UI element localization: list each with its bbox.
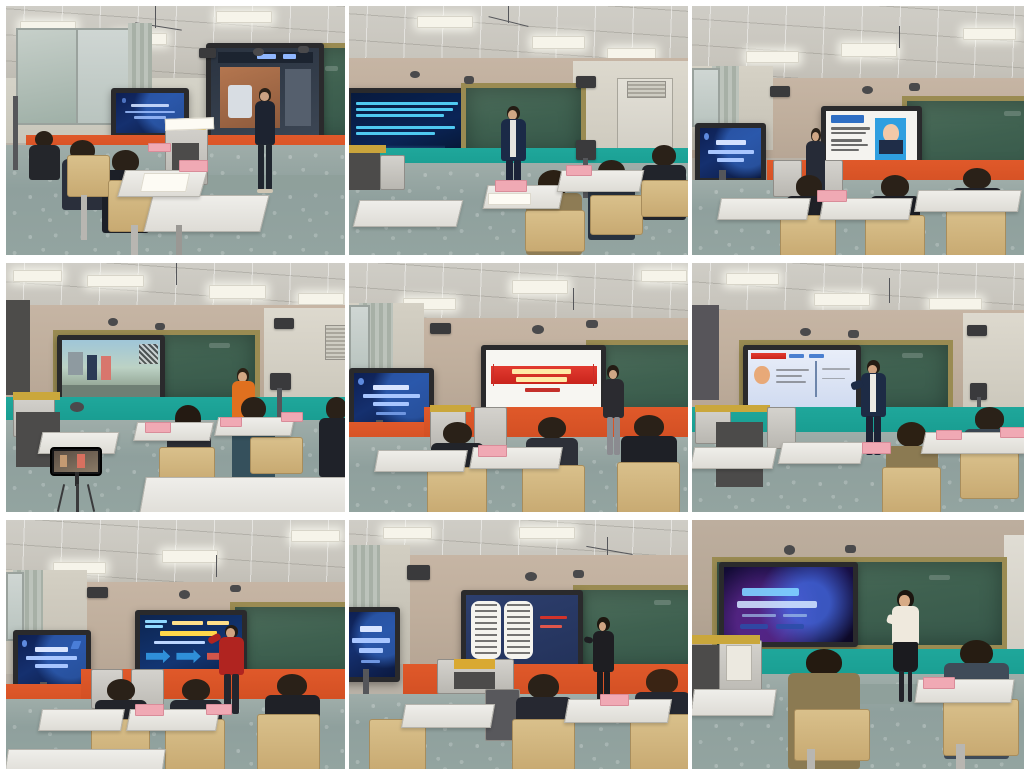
pink-booklet (145, 422, 171, 432)
side-banner-screen[interactable] (695, 123, 766, 183)
wall-speaker (967, 325, 987, 336)
slide-title-line (742, 588, 799, 596)
classroom-scene-7 (6, 520, 345, 769)
pink-booklet (862, 442, 891, 454)
photo-cell-1[interactable] (6, 6, 345, 255)
desk (778, 442, 866, 464)
photo-collage-grid (0, 0, 1024, 768)
chair (780, 215, 836, 255)
photo-cell-2[interactable] (349, 6, 688, 255)
photo-cell-3[interactable] (692, 6, 1024, 255)
pink-booklet (817, 190, 846, 202)
wall-speaker (407, 565, 431, 580)
chair (250, 437, 303, 474)
desk (914, 190, 1022, 212)
air-vent (325, 325, 345, 359)
audience-member (26, 131, 63, 181)
chair (946, 208, 1006, 255)
pink-booklet (179, 160, 208, 172)
desk (692, 447, 778, 469)
wall-speaker (430, 323, 450, 334)
chair (67, 155, 110, 197)
photo-cell-5[interactable] (349, 263, 688, 512)
photo-cell-8[interactable] (349, 520, 688, 769)
classroom-scene-5 (349, 263, 688, 512)
pink-booklet (206, 704, 232, 714)
pink-booklet (281, 412, 303, 421)
desk (374, 450, 468, 472)
chair (522, 465, 585, 512)
chair (641, 180, 688, 217)
classroom-scene-4 (6, 263, 345, 512)
tripod (53, 472, 100, 512)
desk (692, 689, 777, 716)
chair (525, 210, 585, 252)
audience-member (318, 397, 345, 477)
chair (943, 699, 1020, 756)
window (349, 305, 370, 374)
desk (38, 709, 125, 731)
pink-booklet (220, 417, 242, 426)
pink-booklet (135, 704, 164, 716)
wall-speaker (770, 86, 790, 97)
pink-booklet (148, 143, 170, 152)
ceiling-camera (784, 545, 796, 555)
pink-booklet (495, 180, 528, 192)
photo-cell-7[interactable] (6, 520, 345, 769)
desk (352, 200, 462, 227)
chair (512, 719, 575, 769)
wall-speaker (199, 48, 216, 58)
chair (590, 195, 643, 234)
pink-booklet (923, 677, 956, 689)
classroom-scene-9 (692, 520, 1024, 769)
skirt (893, 642, 917, 672)
window (692, 68, 720, 127)
presenter (858, 360, 889, 455)
chair (427, 467, 487, 512)
air-vent (627, 81, 666, 98)
notebook (140, 173, 190, 192)
desk (401, 704, 495, 728)
chair (617, 462, 680, 512)
side-banner-screen[interactable] (349, 607, 400, 682)
podium-console (380, 155, 406, 189)
notebook (488, 193, 531, 205)
slide-subtitle-line (737, 601, 817, 608)
wall-speaker (576, 76, 596, 88)
chair (882, 467, 942, 512)
classroom-scene-8 (349, 520, 688, 769)
classroom-scene-1 (6, 6, 345, 255)
pink-booklet (600, 694, 629, 706)
classroom-scene-3 (692, 6, 1024, 255)
desk (144, 195, 270, 232)
desk (6, 749, 166, 769)
presenter (590, 617, 617, 707)
chair (960, 452, 1020, 499)
photo-cell-9[interactable] (692, 520, 1024, 769)
wall-speaker (274, 318, 294, 329)
pink-booklet (478, 445, 507, 457)
chair (257, 714, 320, 769)
photo-cell-6[interactable] (692, 263, 1024, 512)
main-touch-screen[interactable] (57, 335, 165, 402)
ceiling-camera (862, 86, 874, 94)
ceiling-camera (253, 48, 263, 55)
desk (138, 477, 345, 512)
chair (794, 709, 871, 761)
ceiling-camera (108, 318, 118, 326)
wall-speaker (87, 587, 107, 598)
pink-booklet (566, 165, 592, 175)
classroom-scene-2 (349, 6, 688, 255)
photo-cell-4[interactable] (6, 263, 345, 512)
ceiling-camera (179, 590, 191, 599)
presenter (250, 88, 281, 193)
pink-booklet (1000, 427, 1024, 437)
chair (865, 215, 925, 255)
pink-booklet (936, 430, 962, 440)
desk (717, 198, 811, 220)
classroom-scene-6 (692, 263, 1024, 512)
ceiling-camera (532, 325, 544, 334)
